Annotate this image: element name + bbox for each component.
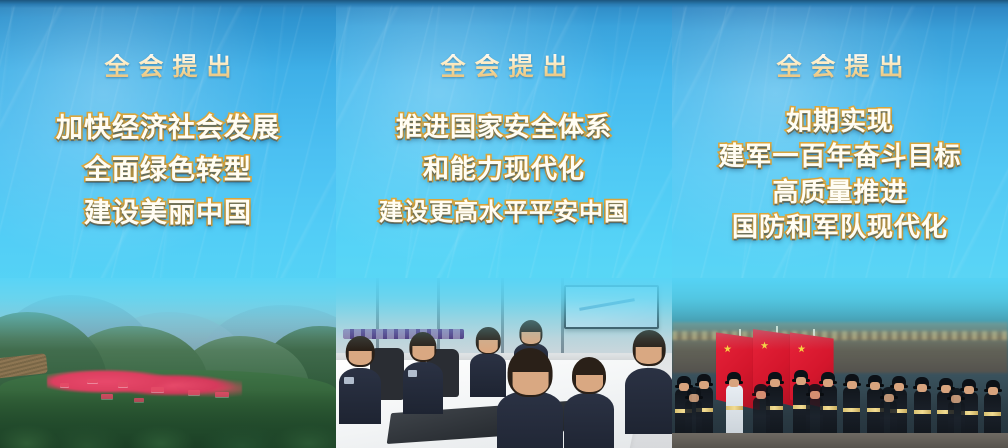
poster-panel-1[interactable]: 全会提出 加快经济社会发展 全面绿色转型 建设美丽中国 bbox=[0, 0, 336, 448]
panel-1-headline-line-2: 全面绿色转型 bbox=[84, 157, 252, 185]
panel-3-kicker: 全会提出 bbox=[767, 54, 912, 79]
panel-3-headline-line-3: 高质量推进 bbox=[772, 180, 907, 207]
panel-3-headline-line-4: 国防和军队现代化 bbox=[732, 215, 948, 242]
panel-2-headline-block: 推进国家安全体系 和能力现代化 建设更高水平平安中国 bbox=[336, 115, 672, 225]
poster-panel-3[interactable]: 全会提出 如期实现 建军一百年奋斗目标 高质量推进 国防和军队现代化 bbox=[672, 0, 1008, 448]
panel-3-headline-line-1: 如期实现 bbox=[786, 109, 894, 136]
panel-1-headline-line-3: 建设美丽中国 bbox=[84, 200, 252, 228]
panel-1-headline-line-1: 加快经济社会发展 bbox=[56, 115, 280, 143]
panel-2-headline-line-1: 推进国家安全体系 bbox=[396, 115, 612, 142]
panel-1-kicker: 全会提出 bbox=[95, 54, 240, 79]
poster-panel-2[interactable]: 全会提出 推进国家安全体系 和能力现代化 建设更高水平平安中国 bbox=[336, 0, 672, 448]
panel-2-headline-line-3: 建设更高水平平安中国 bbox=[379, 200, 629, 225]
poster-strip: 全会提出 加快经济社会发展 全面绿色转型 建设美丽中国 bbox=[0, 0, 1008, 448]
panel-3-headline-line-2: 建军一百年奋斗目标 bbox=[718, 144, 961, 171]
panel-1-headline-block: 加快经济社会发展 全面绿色转型 建设美丽中国 bbox=[0, 115, 336, 228]
panel-3-text-overlay: 全会提出 如期实现 建军一百年奋斗目标 高质量推进 国防和军队现代化 bbox=[672, 0, 1008, 448]
panel-3-headline-block: 如期实现 建军一百年奋斗目标 高质量推进 国防和军队现代化 bbox=[672, 109, 1008, 242]
panel-2-text-overlay: 全会提出 推进国家安全体系 和能力现代化 建设更高水平平安中国 bbox=[336, 0, 672, 448]
panel-2-kicker: 全会提出 bbox=[431, 54, 576, 79]
panel-1-text-overlay: 全会提出 加快经济社会发展 全面绿色转型 建设美丽中国 bbox=[0, 0, 336, 448]
panel-2-headline-line-2: 和能力现代化 bbox=[423, 157, 585, 184]
